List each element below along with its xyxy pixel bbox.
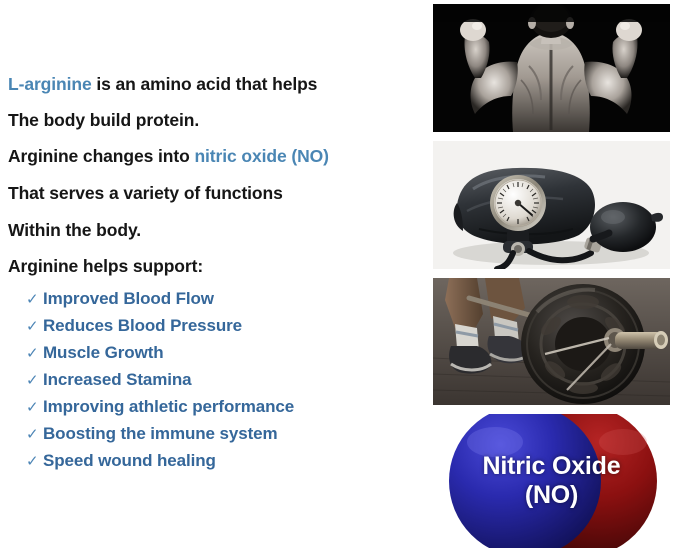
image-column: Nitric Oxide (NO) [433,0,670,552]
term-l-arginine: L-arginine [8,74,92,94]
checkmark-icon: ✓ [26,292,43,307]
list-item-label: Increased Stamina [43,370,192,390]
paragraph-line-1: L-arginine is an amino acid that helps [8,74,317,95]
list-item-label: Speed wound healing [43,451,216,471]
nitric-oxide-graphic: Nitric Oxide (NO) [433,414,670,548]
list-item-label: Improved Blood Flow [43,289,214,309]
checkmark-icon: ✓ [26,454,43,469]
list-item: ✓ Reduces Blood Pressure [26,316,406,343]
paragraph-line-2: The body build protein. [8,110,199,131]
checkmark-icon: ✓ [26,373,43,388]
checkmark-icon: ✓ [26,319,43,334]
list-item-label: Improving athletic performance [43,397,294,417]
checkmark-icon: ✓ [26,400,43,415]
list-item: ✓ Improved Blood Flow [26,289,406,316]
paragraph-line-6: Arginine helps support: [8,256,203,277]
term-nitric-oxide: nitric oxide (NO) [194,146,328,166]
muscular-back-photo [433,4,670,132]
list-item-label: Boosting the immune system [43,424,278,444]
text-column: L-arginine is an amino acid that helps T… [0,0,430,552]
paragraph-line-1-rest: is an amino acid that helps [92,74,318,94]
infographic-page: L-arginine is an amino acid that helps T… [0,0,679,552]
paragraph-line-3-rest: Arginine changes into [8,146,194,166]
paragraph-line-4: That serves a variety of functions [8,183,283,204]
list-item: ✓ Improving athletic performance [26,397,406,424]
blood-pressure-illustration [433,141,670,269]
checkmark-icon: ✓ [26,346,43,361]
list-item-label: Reduces Blood Pressure [43,316,242,336]
barbell-photo [433,278,670,405]
list-item-label: Muscle Growth [43,343,164,363]
benefits-list: ✓ Improved Blood Flow ✓ Reduces Blood Pr… [26,289,406,478]
paragraph-line-5: Within the body. [8,220,141,241]
list-item: ✓ Boosting the immune system [26,424,406,451]
nitric-oxide-spheres [433,414,670,548]
list-item: ✓ Increased Stamina [26,370,406,397]
list-item: ✓ Muscle Growth [26,343,406,370]
checkmark-icon: ✓ [26,427,43,442]
paragraph-line-3: Arginine changes into nitric oxide (NO) [8,146,329,167]
muscular-back-illustration [433,4,670,132]
blood-pressure-monitor-photo [433,141,670,269]
barbell-illustration [433,278,670,405]
list-item: ✓ Speed wound healing [26,451,406,478]
